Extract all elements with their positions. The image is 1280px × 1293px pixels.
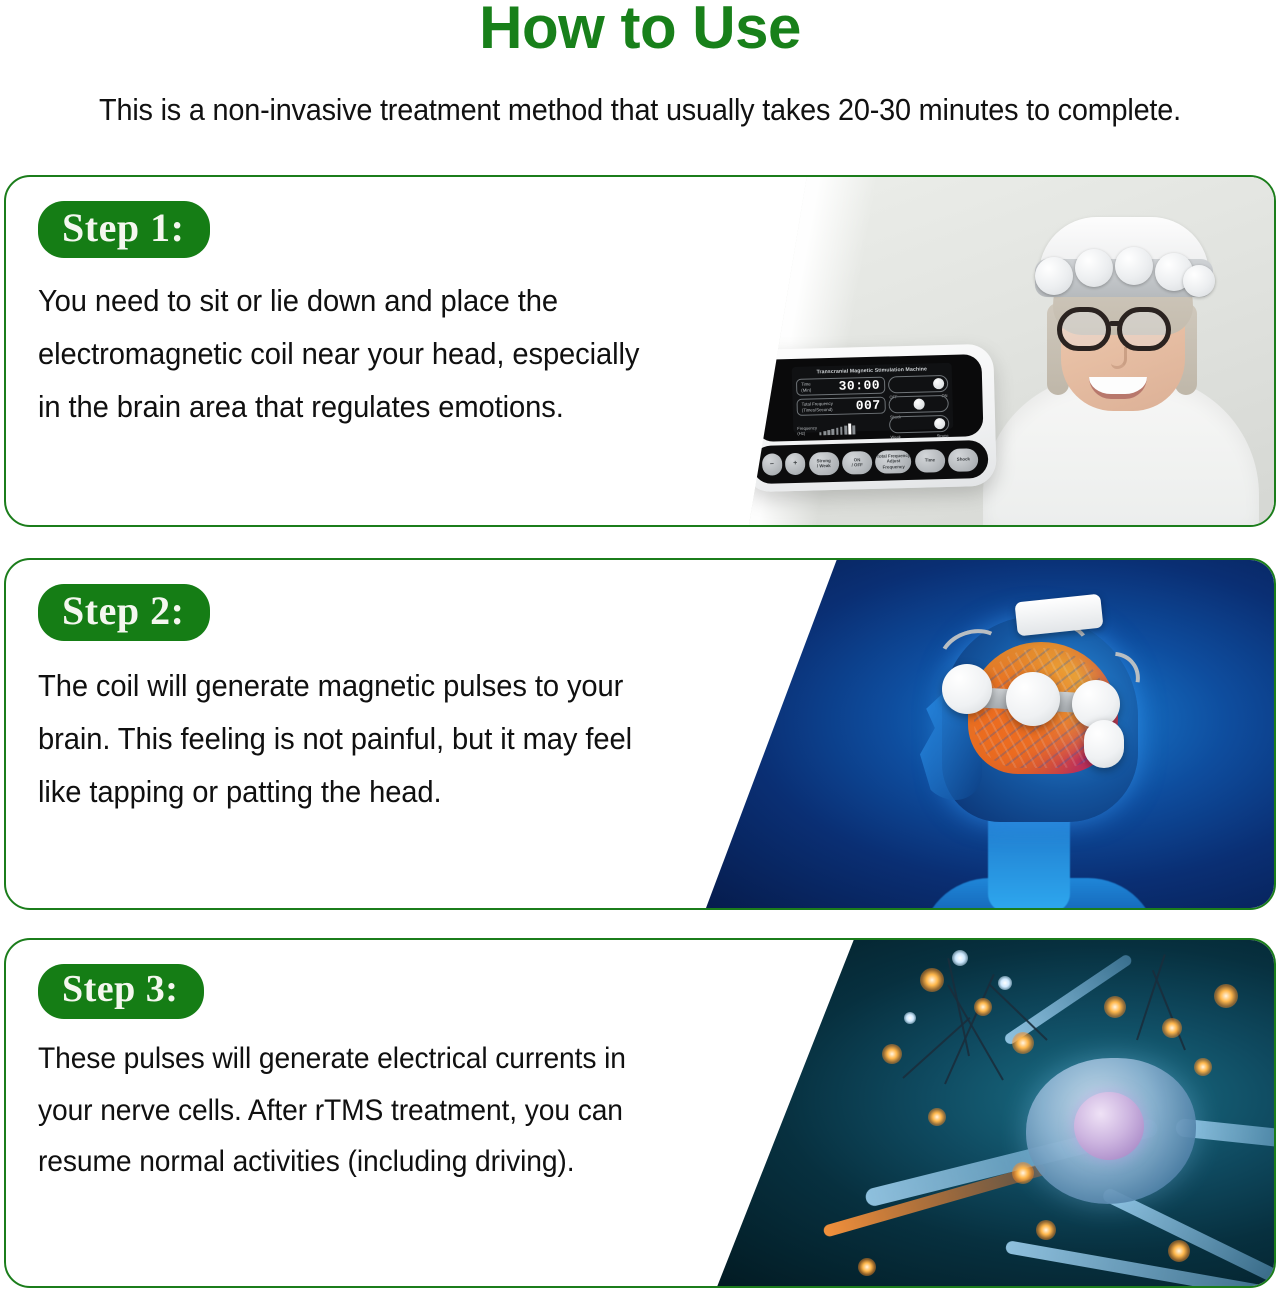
glasses-left-lens [1057,307,1111,351]
synapse-spark [1012,1032,1034,1054]
strong-label: Strong [937,433,949,438]
synapse-spark [858,1258,876,1276]
step-card-1: Transcranial Magnetic Stimulation Machin… [4,175,1276,527]
coil-pad-icon [1035,257,1073,295]
synapse-spark [1162,1018,1182,1038]
device-screen-bezel: Transcranial Magnetic Stimulation Machin… [753,354,983,442]
step-card-3: Step 3: These pulses will generate elect… [4,938,1276,1288]
device-button-plus[interactable]: + [785,453,806,476]
device-lcd: Transcranial Magnetic Stimulation Machin… [792,363,954,433]
frequency-scale-unit: (Hz) [797,430,817,436]
coil-disc-icon [1084,720,1124,768]
step-3-image [706,940,1274,1286]
synapse-spark [1036,1220,1056,1240]
coil-pad-icon [1183,265,1215,297]
lcd-frequency-row: Total Frequency (Times/Second) 007 Shock [796,395,948,416]
power-toggle[interactable]: OFF ON [888,375,948,394]
glow-dot [998,976,1012,990]
step-1-badge: Step 1: [38,201,210,258]
step-1-body: You need to sit or lie down and place th… [38,274,658,433]
glasses-bridge [1109,321,1121,326]
synapse-spark [1214,984,1238,1008]
lcd-frequency-value: 007 [856,398,881,414]
device-button-row: – + Strong / Weak ON / OFF Total Frequen… [752,440,989,484]
device-button-on-off[interactable]: ON / OFF [842,450,873,474]
step-1-image: Transcranial Magnetic Stimulation Machin… [749,177,1274,525]
coil-pad-icon [1115,247,1153,285]
step-2-body: The coil will generate magnetic pulses t… [38,659,658,818]
device-button-strong-weak[interactable]: Strong / Weak [808,451,839,475]
synapse-spark [974,998,992,1016]
step-3-text-column: Step 3: These pulses will generate elect… [6,940,726,1286]
neuron-nucleus [1074,1092,1144,1160]
lcd-intensity-row: Frequency (Hz) [797,415,949,436]
glasses-right-lens [1117,307,1171,351]
shock-toggle-knob [914,399,925,410]
lcd-frequency-field: Total Frequency (Times/Second) 007 [796,397,885,416]
head-illustration [884,594,1184,908]
lcd-time-row: Time (Min) 30:00 OFF ON [796,375,948,396]
dendrite-branch [947,984,1004,1080]
synapse-spark [1194,1058,1212,1076]
lcd-frequency-unit: (Times/Second) [802,406,833,412]
weak-label: Weak [890,434,900,439]
shock-toggle[interactable]: Shock [888,395,948,414]
lcd-time-value: 30:00 [838,378,880,394]
device-button-shock[interactable]: Shock [948,448,979,472]
lcd-time-label: Time [801,382,811,388]
intensity-toggle[interactable]: Weak Strong [889,415,949,434]
step-1-text-column: Step 1: You need to sit or lie down and … [6,177,726,525]
step-3-body: These pulses will generate electrical cu… [38,1033,685,1188]
synapse-spark [882,1044,902,1064]
coil-pad-icon [1075,249,1113,287]
intensity-toggle-knob [934,418,945,429]
lcd-time-unit: (Min) [801,387,811,393]
synapse-spark [920,968,944,992]
patient-figure [977,195,1267,525]
coil-disc-icon [942,664,992,714]
glow-dot [904,1012,916,1024]
coil-disc-icon [1006,672,1060,726]
lcd-time-field: Time (Min) 30:00 [796,377,885,396]
glow-dot [952,950,968,966]
step-2-image [706,560,1274,908]
dendrite-branch [947,958,970,1056]
device-button-frequency[interactable]: Total Frequency Adjust Frequency [875,449,912,473]
step-card-2: Step 2: The coil will generate magnetic … [4,558,1276,910]
device-button-time[interactable]: Time [915,449,946,473]
step-3-badge: Step 3: [38,964,204,1019]
frequency-scale: Frequency (Hz) [797,422,855,436]
page-title: How to Use [0,0,1280,59]
synapse-spark [1012,1162,1034,1184]
how-to-use-page: How to Use This is a non-invasive treatm… [0,0,1280,1293]
frequency-bars [819,422,855,435]
page-subtitle: This is a non-invasive treatment method … [45,92,1235,128]
power-toggle-knob [933,378,944,389]
synapse-spark [928,1108,946,1126]
device-button-minus[interactable]: – [762,453,783,476]
synapse-spark [1104,996,1126,1018]
step-2-badge: Step 2: [38,584,210,641]
tms-control-device: Transcranial Magnetic Stimulation Machin… [749,344,997,493]
coil-control-box [1014,594,1103,637]
step-2-text-column: Step 2: The coil will generate magnetic … [6,560,726,908]
lcd-title: Transcranial Magnetic Stimulation Machin… [796,366,948,376]
dendrite-branch [1152,970,1186,1050]
synapse-spark [1168,1240,1190,1262]
